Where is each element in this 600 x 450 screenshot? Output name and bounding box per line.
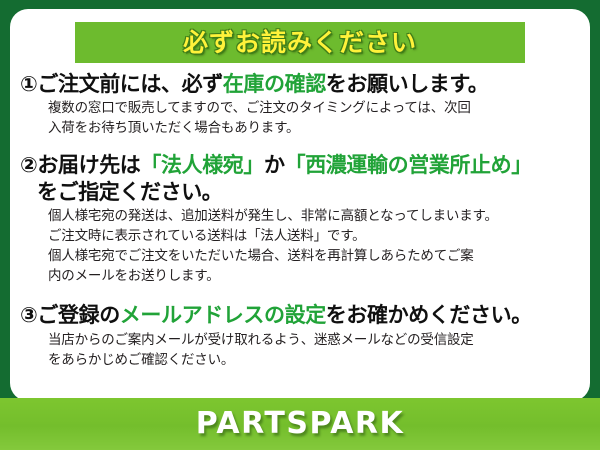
section-1-heading: ①ご注文前には、必ず在庫の確認をお願いします。 <box>20 71 578 97</box>
section-1-heading-after: をお願いします。 <box>326 72 489 96</box>
footer-brand-band: PARTSPARK <box>0 398 600 450</box>
section-2-heading-highlight-2: 「西濃運輸の営業所止め」 <box>285 153 532 177</box>
notice-sections: ①ご注文前には、必ず在庫の確認をお願いします。 複数の窓口で販売してますので、ご… <box>10 71 590 371</box>
section-2-body: 個人様宅宛の発送は、追加送料が発生し、非常に高額となってしまいます。 ご注文時に… <box>20 207 578 287</box>
section-2-body-line-4: 内のメールをお送りします。 <box>48 267 578 287</box>
section-1-body: 複数の窓口で販売してますので、ご注文のタイミングによっては、次回 入荷をお待ち頂… <box>20 99 578 139</box>
section-3-body-line-2: をあらかじめご確認ください。 <box>48 351 578 371</box>
section-3-heading-before: ご登録の <box>37 303 119 327</box>
notice-section-1: ①ご注文前には、必ず在庫の確認をお願いします。 複数の窓口で販売してますので、ご… <box>10 71 590 139</box>
section-2-body-line-1: 個人様宅宛の発送は、追加送料が発生し、非常に高額となってしまいます。 <box>48 207 578 227</box>
section-1-body-line-2: 入荷をお待ち頂いただく場合もあります。 <box>48 119 578 139</box>
section-3-body-line-1: 当店からのご案内メールが受け取れるよう、迷惑メールなどの受信設定 <box>48 331 578 351</box>
section-3-heading-highlight: メールアドレスの設定 <box>120 303 326 327</box>
section-2-heading-middle: か <box>264 153 285 177</box>
section-3-body: 当店からのご案内メールが受け取れるよう、迷惑メールなどの受信設定 をあらかじめご… <box>20 331 578 371</box>
section-1-body-line-1: 複数の窓口で販売してますので、ご注文のタイミングによっては、次回 <box>48 99 578 119</box>
section-1-heading-before: ご注文前には、必ず <box>37 72 222 96</box>
section-1-heading-highlight: 在庫の確認 <box>223 72 326 96</box>
section-2-heading-before: お届け先は <box>37 153 140 177</box>
section-2-body-line-3: 個人様宅宛でご注文をいただいた場合、送料を再計算しあらためてご案 <box>48 247 578 267</box>
brand-wordmark: PARTSPARK <box>196 409 405 439</box>
section-2-body-line-2: ご注文時に表示されている送料は「法人送料」です。 <box>48 227 578 247</box>
section-2-heading-highlight: 「法人様宛」 <box>140 153 264 177</box>
notice-section-2: ②お届け先は「法人様宛」か「西濃運輸の営業所止め」をご指定ください。 個人様宅宛… <box>10 152 590 287</box>
header-title: 必ずお読みください <box>183 30 417 55</box>
section-2-heading-after: をご指定ください。 <box>20 179 222 205</box>
section-1-marker: ① <box>20 72 37 96</box>
content-panel: 必ずお読みください ①ご注文前には、必ず在庫の確認をお願いします。 複数の窓口で… <box>10 9 590 401</box>
section-3-heading-after: をお確かめください。 <box>326 303 532 327</box>
section-3-heading: ③ご登録のメールアドレスの設定をお確かめください。 <box>20 302 578 328</box>
notice-banner: 必ずお読みください ①ご注文前には、必ず在庫の確認をお願いします。 複数の窓口で… <box>0 0 600 450</box>
section-2-marker: ② <box>20 153 37 177</box>
header-banner-bar: 必ずお読みください <box>75 22 525 63</box>
section-2-heading: ②お届け先は「法人様宛」か「西濃運輸の営業所止め」をご指定ください。 <box>20 152 578 205</box>
notice-section-3: ③ご登録のメールアドレスの設定をお確かめください。 当店からのご案内メールが受け… <box>10 302 590 370</box>
section-3-marker: ③ <box>20 303 37 327</box>
